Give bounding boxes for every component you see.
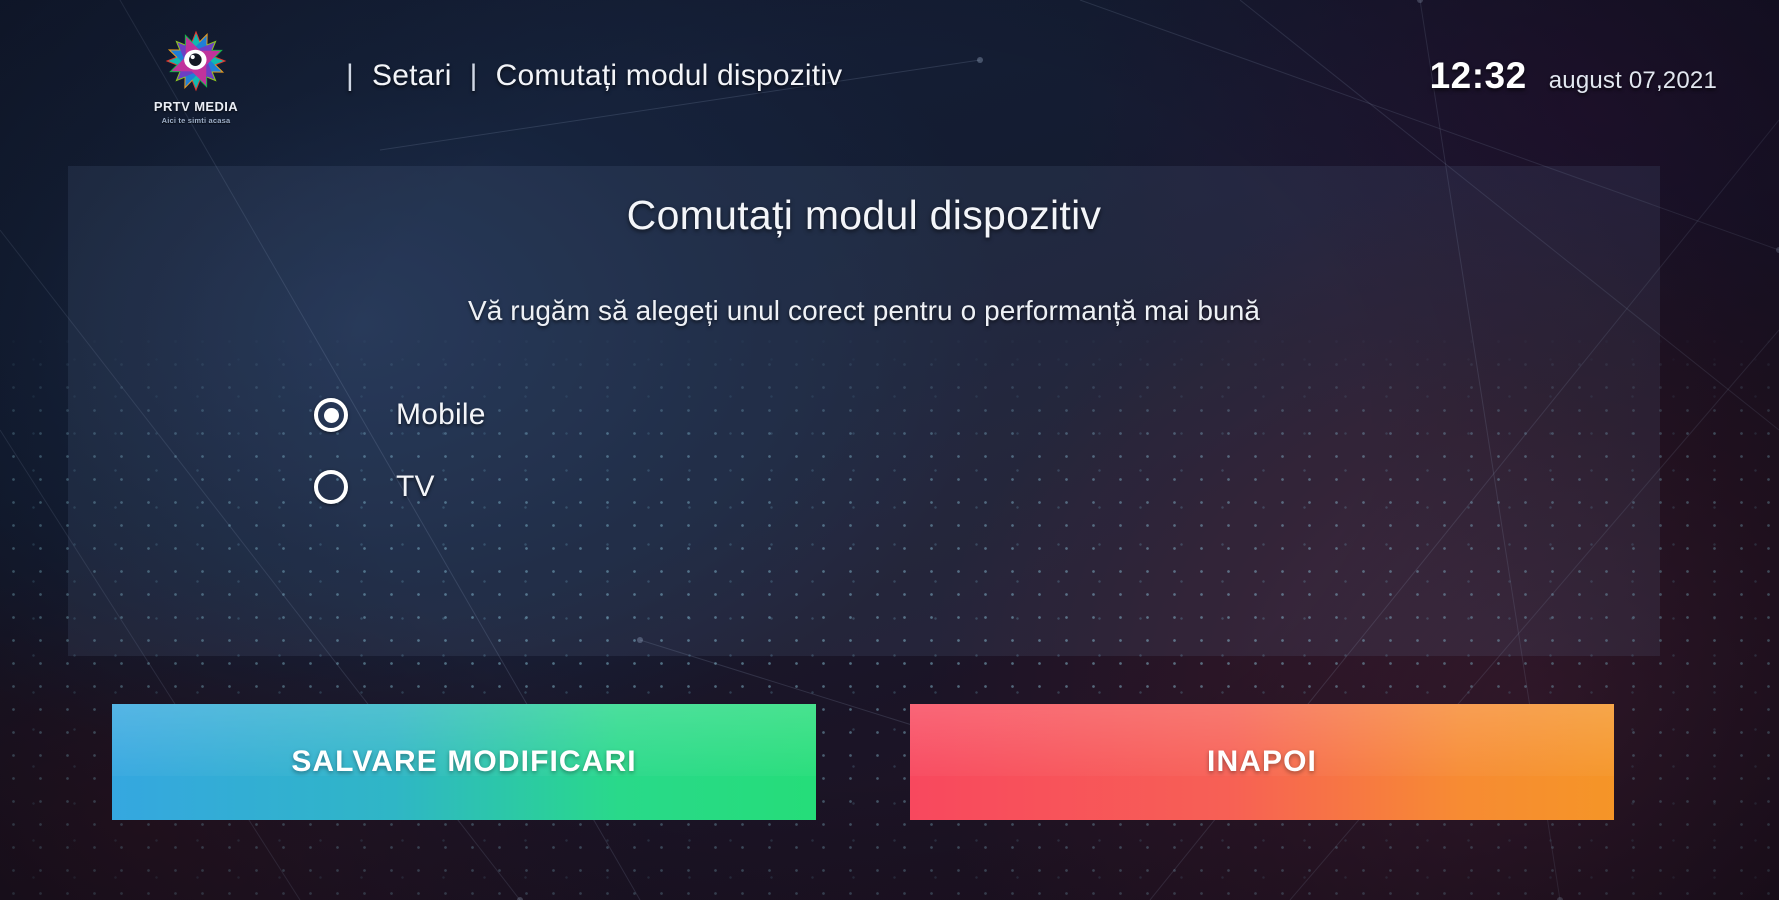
breadcrumb-separator-2: | [470, 59, 478, 93]
radio-option-label-mobile: Mobile [396, 398, 486, 432]
radio-selected-icon[interactable] [314, 398, 348, 432]
app-header: PRTV MEDIA Aici te simti acasa | Setari … [0, 0, 1779, 152]
page-subtitle: Vă rugăm să alegeți unul corect pentru o… [68, 295, 1660, 327]
radio-option-mobile[interactable]: Mobile [314, 379, 1660, 451]
radio-option-label-tv: TV [396, 470, 435, 504]
back-button[interactable]: INAPOI [910, 704, 1614, 820]
page-title: Comutați modul dispozitiv [68, 192, 1660, 239]
back-label: INAPOI [1207, 745, 1317, 779]
clock-time: 12:32 [1430, 55, 1527, 97]
save-changes-button[interactable]: SALVARE MODIFICARI [112, 704, 816, 820]
brand-name: PRTV MEDIA [154, 99, 238, 114]
action-bar: SALVARE MODIFICARI INAPOI [0, 704, 1779, 820]
breadcrumb-item-setari[interactable]: Setari [372, 59, 452, 93]
brand-tagline: Aici te simti acasa [162, 116, 231, 125]
save-changes-label: SALVARE MODIFICARI [291, 745, 636, 779]
radio-option-tv[interactable]: TV [314, 451, 1660, 523]
clock: 12:32 august 07,2021 [1430, 55, 1717, 97]
radio-unselected-icon[interactable] [314, 470, 348, 504]
breadcrumb: | Setari | Comutați modul dispozitiv [346, 59, 842, 93]
prtv-star-eye-logo-icon [163, 28, 229, 94]
breadcrumb-separator-1: | [346, 59, 354, 93]
device-mode-panel: Comutați modul dispozitiv Vă rugăm să al… [68, 166, 1660, 656]
device-mode-radio-group: Mobile TV [68, 379, 1660, 523]
clock-date: august 07,2021 [1549, 67, 1717, 95]
brand-logo[interactable]: PRTV MEDIA Aici te simti acasa [92, 16, 300, 136]
breadcrumb-item-device-mode[interactable]: Comutați modul dispozitiv [496, 59, 843, 93]
